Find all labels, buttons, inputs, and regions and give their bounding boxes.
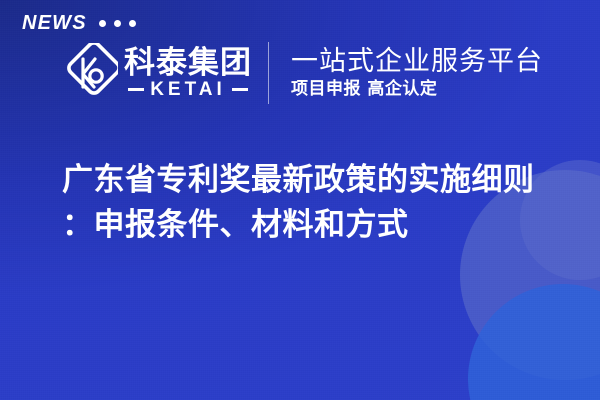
ketai-logo-icon	[60, 43, 118, 103]
decorative-circle-bright	[468, 284, 600, 400]
news-eyebrow: NEWS	[22, 12, 136, 35]
brand-name-cn: 科泰集团	[124, 47, 252, 80]
brand-wordmark: 科泰集团 KETAI	[124, 47, 252, 100]
headline-line-2: ：申报条件、材料和方式	[62, 203, 562, 248]
brand-header: 科泰集团 KETAI 一站式企业服务平台 项目申报 高企认定	[60, 42, 543, 104]
tagline-block: 一站式企业服务平台 项目申报 高企认定	[291, 47, 543, 99]
rule-left	[128, 88, 144, 91]
news-banner: NEWS 科泰集团 KETAI	[0, 0, 600, 400]
dot-icon	[129, 20, 136, 27]
three-dots-icon	[99, 20, 136, 27]
dot-icon	[114, 20, 121, 27]
vertical-divider	[268, 42, 269, 104]
tagline-secondary: 项目申报 高企认定	[291, 80, 543, 100]
headline-line-1: 广东省专利奖最新政策的实施细则	[62, 158, 562, 203]
news-label: NEWS	[22, 12, 87, 35]
brand-name-en-row: KETAI	[124, 80, 252, 99]
dot-icon	[99, 20, 106, 27]
headline-block: 广东省专利奖最新政策的实施细则 ：申报条件、材料和方式	[62, 158, 562, 248]
brand-name-en: KETAI	[150, 80, 226, 99]
rule-right	[232, 88, 248, 91]
tagline-primary: 一站式企业服务平台	[291, 47, 543, 77]
